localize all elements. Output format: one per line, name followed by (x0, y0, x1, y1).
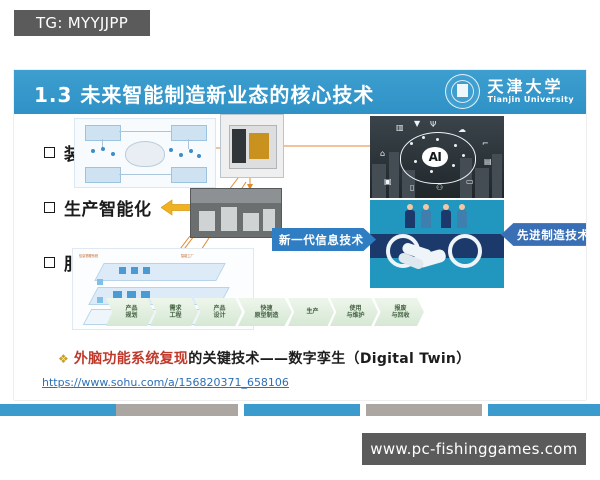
process-step-5[interactable]: 生产 (288, 298, 334, 326)
flow-diagram-image (74, 118, 216, 188)
university-name-cn: 天津大学 (487, 79, 574, 96)
process-step-6-line1: 使用 (349, 305, 361, 313)
cnc-machine-image (220, 114, 284, 178)
antenna-icon: Ψ (430, 121, 436, 129)
process-step-4-line2: 原型制造 (254, 312, 278, 320)
car-icon: ▭ (466, 178, 474, 186)
human-robot-handshake-image (370, 200, 504, 288)
presentation-slide: 1.3 未来智能制造新业态的核心技术 天津大学 Tianjin Universi… (14, 70, 586, 400)
process-step-7[interactable]: 报废 与回收 (374, 298, 424, 326)
source-url-link[interactable]: https://www.sohu.com/a/156820371_658106 (42, 376, 289, 389)
banner-advanced-manufacturing[interactable]: 先进制造技术 (501, 223, 586, 246)
diamond-bullet-icon: ❖ (58, 352, 69, 366)
process-step-1-line2: 规划 (125, 312, 137, 320)
key-line-rest: 的关键技术——数字孪生（Digital Twin） (188, 351, 470, 367)
watermark-bottom-right: www.pc-fishinggames.com (362, 433, 586, 465)
square-bullet-icon (44, 202, 55, 213)
process-step-6-line2: 与维护 (346, 312, 364, 320)
footer-segment-9 (488, 404, 600, 416)
cloud-icon: ☁ (458, 126, 466, 134)
process-step-2[interactable]: 需求 工程 (150, 298, 198, 326)
footer-strip (0, 404, 600, 416)
process-step-7-line2: 与回收 (391, 312, 409, 320)
square-bullet-icon (44, 147, 55, 158)
process-step-4-line1: 快速 (260, 305, 272, 313)
people-icon: ⚇ (436, 184, 443, 192)
footer-segment-5 (244, 404, 360, 416)
process-step-7-line1: 报废 (394, 305, 406, 313)
process-step-2-line1: 需求 (169, 305, 181, 313)
university-logo: 天津大学 Tianjin University (445, 74, 574, 109)
process-step-2-line2: 工程 (169, 312, 181, 320)
phone-icon: ▯ (410, 184, 414, 192)
ai-network-image: AI ⌂ ▥ ▼ Ψ ☁ ⌐ ▤ ▣ ▯ ⚇ ▭ (370, 116, 504, 198)
banner-info-label: 新一代信息技术 (279, 232, 364, 248)
process-step-4[interactable]: 快速 原型制造 (238, 298, 292, 326)
process-step-3-line2: 设计 (213, 312, 225, 320)
footer-segment-7 (366, 404, 482, 416)
robot-arm-icon: ⌐ (482, 140, 489, 148)
factory-icon: ▥ (396, 124, 404, 132)
process-step-3[interactable]: 产品 设计 (194, 298, 242, 326)
slide-title: 1.3 未来智能制造新业态的核心技术 (34, 79, 374, 108)
process-step-1-line1: 产品 (125, 305, 137, 313)
process-step-5-line1: 生产 (306, 308, 318, 316)
process-step-6[interactable]: 使用 与维护 (330, 298, 378, 326)
banner-adv-label: 先进制造技术 (517, 227, 586, 243)
bullet-label-production: 生产智能化 (64, 195, 152, 220)
watermark-top-left: TG: MYYJJPP (14, 10, 150, 36)
chart-icon: ▤ (484, 158, 492, 166)
footer-segment-3 (122, 404, 238, 416)
key-line-highlight: 外脑功能系统复现 (74, 351, 188, 367)
lifecycle-process-chevrons: 产品 规划 需求 工程 产品 设计 快速 原型制造 生产 使用 与维护 报废 与… (106, 298, 420, 326)
square-bullet-icon (44, 257, 55, 268)
process-step-1[interactable]: 产品 规划 (106, 298, 154, 326)
factory-floor-image (190, 188, 282, 238)
satellite-icon: ▼ (414, 120, 420, 128)
monitor-icon: ▣ (384, 178, 392, 186)
key-technology-line: ❖ 外脑功能系统复现的关键技术——数字孪生（Digital Twin） (58, 348, 471, 368)
university-seal-icon (445, 74, 480, 109)
university-logo-text: 天津大学 Tianjin University (487, 79, 574, 104)
bullet-item-production[interactable]: 生产智能化 (44, 195, 195, 220)
process-step-3-line1: 产品 (213, 305, 225, 313)
footer-segment-1 (0, 404, 116, 416)
ai-core-label: AI (422, 147, 448, 167)
university-name-en: Tianjin University (487, 96, 574, 104)
banner-new-generation-it[interactable]: 新一代信息技术 (272, 228, 376, 251)
home-icon: ⌂ (380, 150, 385, 158)
handshake-illustration (386, 230, 486, 278)
